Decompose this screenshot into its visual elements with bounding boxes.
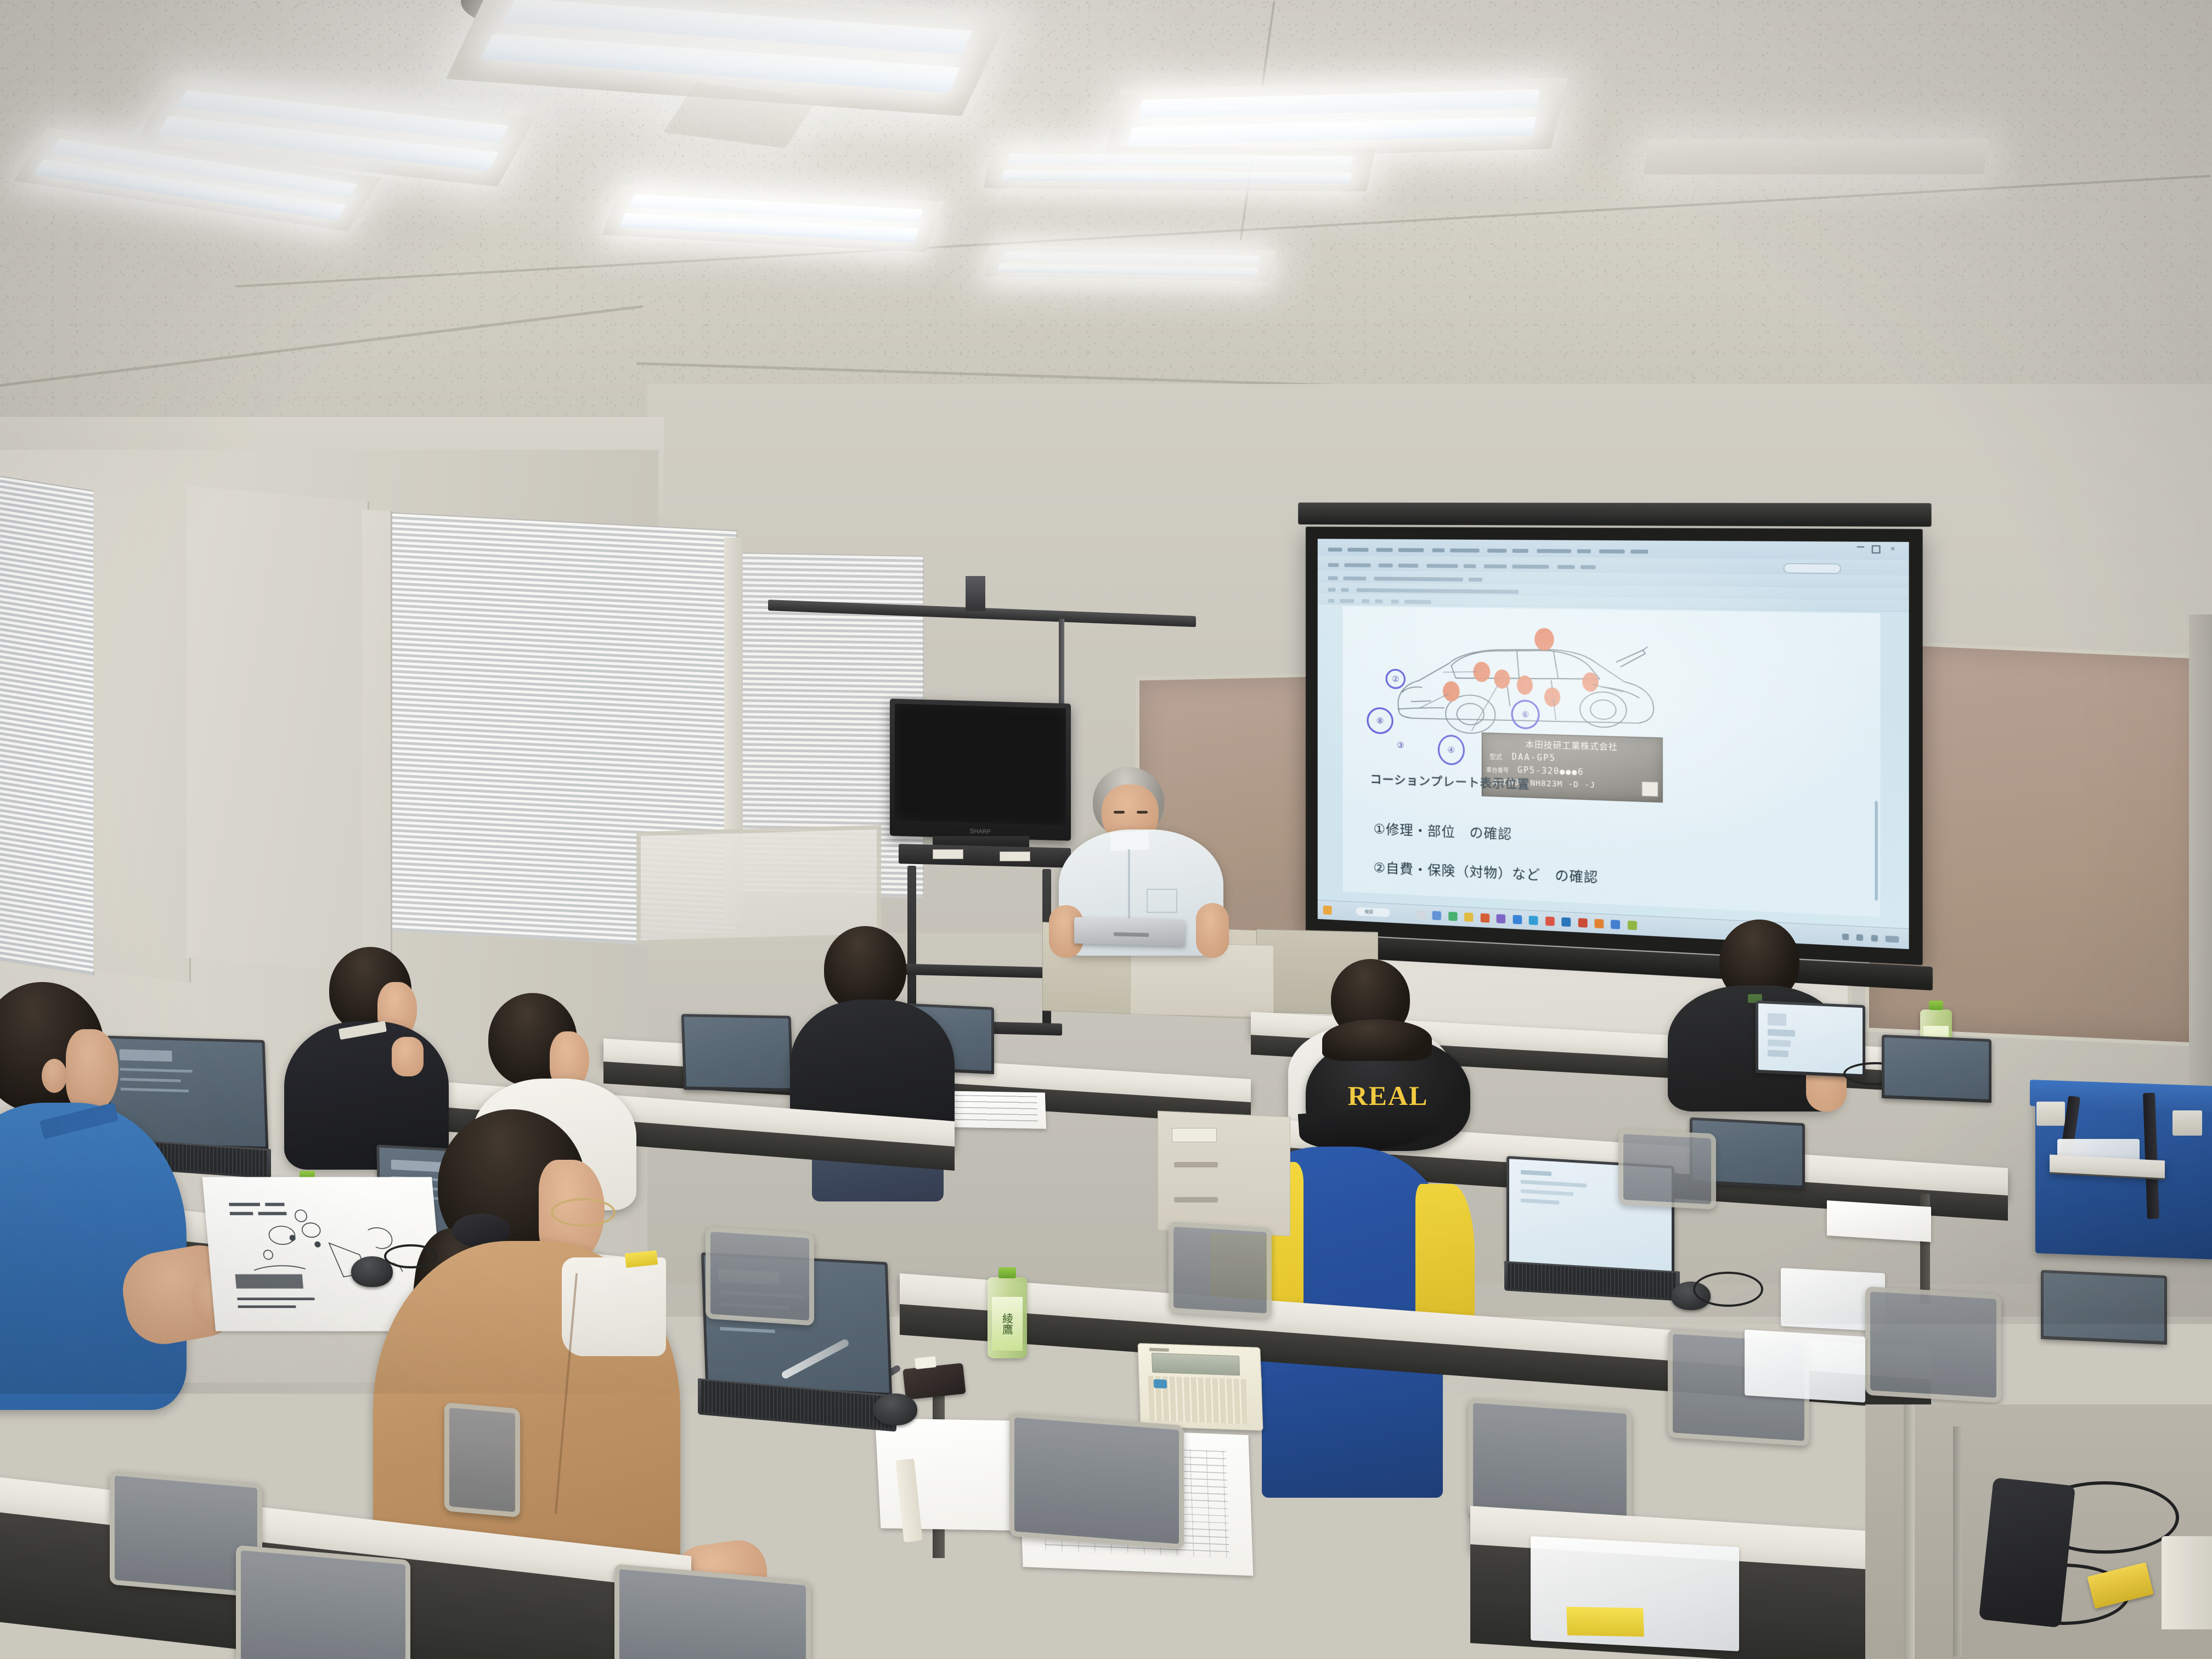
- student-blue-polo-ear: [42, 1059, 67, 1093]
- cabinet-drawer-handle[interactable]: [1174, 1197, 1218, 1203]
- wall-baseboard: [2162, 1536, 2212, 1629]
- classroom-photo: ×: [0, 0, 2212, 1659]
- cabinet-label: [1172, 1128, 1217, 1142]
- cap-text-label: REAL: [1306, 1080, 1470, 1111]
- laptop-screen-content: [119, 1049, 204, 1122]
- wall-pillar: [93, 488, 191, 983]
- document-tag: [1566, 1607, 1644, 1637]
- laptop-screen-content: [1521, 1170, 1598, 1224]
- tv-cart-frame: [899, 844, 1071, 868]
- screen-surface: ×: [1318, 539, 1909, 949]
- mouse-cable: [1693, 1272, 1763, 1307]
- laptop-row-b-1[interactable]: [681, 1014, 794, 1092]
- student-real-cap-jacket-panel: [1262, 1355, 1443, 1498]
- phone[interactable]: [902, 1363, 966, 1400]
- chair[interactable]: [1169, 1221, 1272, 1318]
- instructor-laptop[interactable]: [1074, 917, 1185, 946]
- student-blue-polo-face: [66, 1029, 119, 1113]
- chair-leg: [1904, 1404, 1915, 1659]
- chair[interactable]: [236, 1545, 410, 1659]
- bag-on-floor: [1979, 1477, 2075, 1628]
- ceiling-light: [1644, 139, 1989, 174]
- laptop-back-right[interactable]: [1756, 1001, 1865, 1078]
- screen-roller-case: [1298, 503, 1931, 527]
- tv-cart-label: [1000, 851, 1030, 861]
- chair-leg: [1953, 1426, 1962, 1657]
- cabinet-drawer-handle[interactable]: [1174, 1162, 1218, 1167]
- eyeglasses: [551, 1198, 616, 1227]
- laptop-screen-content: [1768, 1013, 1828, 1062]
- instructor-arm-right: [1196, 903, 1229, 958]
- wall-corner-right: [2189, 614, 2212, 1108]
- wall-panel: [187, 486, 369, 973]
- eraser: [915, 1356, 936, 1369]
- laptop-back-far-right-2[interactable]: [2041, 1270, 2167, 1345]
- chair[interactable]: [1009, 1412, 1184, 1549]
- instructor-collar: [1110, 831, 1149, 851]
- tv-brand-label: SHARP: [970, 828, 991, 835]
- calculator-brand: [1149, 1348, 1169, 1352]
- chair[interactable]: [614, 1564, 811, 1659]
- handout-row-b: [943, 1091, 1046, 1128]
- bottle-label: 綾鷹: [992, 1297, 1023, 1351]
- tv-cart-post: [907, 866, 916, 1025]
- tv-cart-label: [933, 849, 963, 859]
- instructor-pocket: [1147, 889, 1177, 913]
- storage-bin-clip[interactable]: [2036, 1102, 2065, 1126]
- mouse-front-center[interactable]: [873, 1393, 917, 1425]
- calculator-display: [1152, 1353, 1240, 1376]
- student-black-longsleeve-hand: [392, 1037, 424, 1076]
- ceiling-light: [983, 145, 1376, 191]
- green-tea-bottle-3[interactable]: 綾鷹: [988, 1277, 1027, 1358]
- window-blinds: [0, 475, 94, 975]
- cable-row-d: [384, 1244, 438, 1268]
- tv-screen: [895, 704, 1066, 826]
- whiteboard: [636, 825, 881, 945]
- ceiling-light: [985, 245, 1276, 281]
- desk-calculator[interactable]: [1137, 1343, 1263, 1431]
- student-real-cap-hair: [1322, 1019, 1432, 1061]
- chair[interactable]: [1865, 1286, 2001, 1403]
- projector-mount-bracket: [966, 576, 985, 611]
- student-black-tee-head: [824, 926, 906, 1012]
- plastic-bag-row-e: [1745, 1329, 1865, 1402]
- student-tan-cardigan-shirt: [562, 1257, 666, 1356]
- calculator-key-accent[interactable]: [1154, 1379, 1167, 1389]
- laptop-back-far-right[interactable]: [1882, 1035, 1991, 1103]
- wall-tv: SHARP: [890, 698, 1071, 840]
- paper-row-c: [1827, 1200, 1931, 1242]
- chair[interactable]: [706, 1226, 814, 1325]
- wall-pillar: [362, 509, 392, 961]
- chair[interactable]: [444, 1402, 520, 1517]
- projection-screen[interactable]: ×: [1306, 527, 1923, 965]
- instructor-eye-left: [1114, 811, 1125, 814]
- chair[interactable]: [1618, 1128, 1716, 1209]
- instructor-eye-right: [1137, 811, 1148, 814]
- storage-bin-clip[interactable]: [2172, 1110, 2202, 1136]
